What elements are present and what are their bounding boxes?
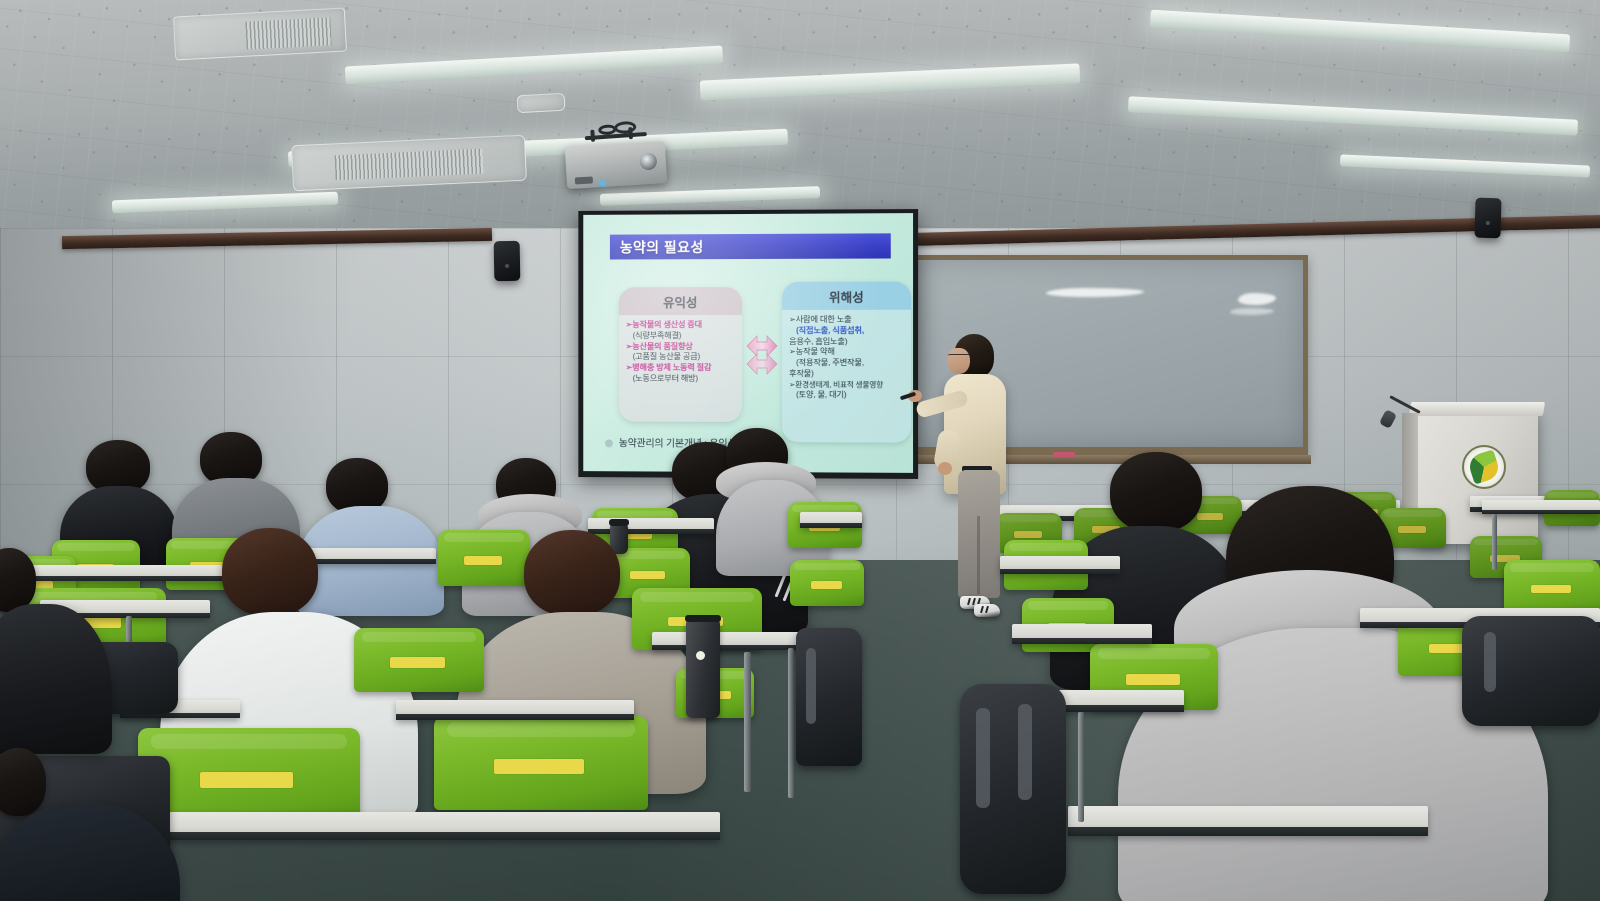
chair xyxy=(1504,560,1600,614)
backpack-strap xyxy=(1018,704,1032,800)
audience-member xyxy=(0,548,112,748)
vent-grille xyxy=(246,17,332,50)
risks-item: (직접노출, 식품섭취, xyxy=(789,326,905,337)
benefits-item: ➢병해충 방제 노동력 절감 xyxy=(626,363,736,374)
risks-item: (적용작물, 주변작물, xyxy=(789,358,905,369)
risks-body: ➢사람에 대한 노출 (직접노출, 식품섭취, 음용수, 흡입노출) ➢농작물 … xyxy=(782,310,911,407)
benefits-heading: 유익성 xyxy=(619,287,742,315)
benefits-item: (노동으로부터 해방) xyxy=(626,374,736,385)
benefits-item: (식량부족해결) xyxy=(626,331,736,342)
lectern-top xyxy=(1409,402,1545,416)
risks-item: 후작물) xyxy=(789,369,905,380)
slide-card-risks: 위해성 ➢사람에 대한 노출 (직접노출, 식품섭취, 음용수, 흡입노출) ➢… xyxy=(782,282,911,443)
whiteboard-smudge xyxy=(1230,308,1274,315)
risks-item: ➢환경생태계, 비표적 생물영향 xyxy=(789,380,905,390)
projector-lens xyxy=(639,153,657,171)
university-logo xyxy=(1462,445,1506,489)
risks-item: ➢농작물 약해 xyxy=(789,347,905,358)
backpack xyxy=(1462,616,1600,726)
benefits-item: ➢농산물의 품질향상 xyxy=(626,342,736,353)
desk-leg xyxy=(744,652,751,792)
presenter-hand xyxy=(938,462,952,475)
head xyxy=(0,548,36,612)
chair-label xyxy=(1126,674,1180,685)
risks-heading: 위해성 xyxy=(782,282,911,310)
risks-item: 음용수, 흡입노출) xyxy=(789,337,905,348)
head xyxy=(0,748,46,816)
backpack xyxy=(960,684,1066,894)
chair-label xyxy=(811,581,842,588)
slide-card-benefits: 유익성 ➢농작물의 생산성 증대 (식량부족해결) ➢농산물의 품질향상 (고품… xyxy=(619,287,742,422)
head xyxy=(222,528,318,616)
slide-title: 농약의 필요성 xyxy=(610,233,891,259)
wall-speaker xyxy=(494,241,521,281)
vent-grille xyxy=(334,149,483,180)
presenter-shoe xyxy=(974,604,1000,617)
chair xyxy=(434,716,648,810)
benefits-item: ➢농작물의 생산성 증대 xyxy=(626,320,736,331)
desk-leg xyxy=(788,648,794,798)
bottle-lid xyxy=(609,519,629,526)
ceiling-ac-unit xyxy=(517,93,566,113)
benefits-body: ➢농작물의 생산성 증대 (식량부족해결) ➢농산물의 품질향상 (고품질 농산… xyxy=(619,315,742,391)
desk xyxy=(1012,624,1152,644)
projector-power-led xyxy=(599,181,606,185)
chair-label xyxy=(200,772,293,787)
chair-label xyxy=(1531,585,1571,594)
logo-emblem xyxy=(1466,449,1501,484)
desk-leg xyxy=(1078,712,1084,822)
whiteboard-smudge xyxy=(1238,293,1276,305)
risks-item: ➢사람에 대한 노출 xyxy=(789,315,905,326)
double-arrow-icon xyxy=(745,332,779,378)
desk xyxy=(800,512,862,528)
backpack-strap xyxy=(976,708,990,808)
presenter-trousers xyxy=(958,470,1000,598)
risks-item: (토양, 물, 대기) xyxy=(789,390,905,401)
bottle-lid xyxy=(685,615,721,622)
torso xyxy=(0,604,112,754)
ceiling-projector xyxy=(565,141,667,189)
wall-speaker xyxy=(1474,198,1501,239)
benefits-item: (고품질 농산물 공급) xyxy=(626,352,736,363)
backpack xyxy=(796,628,862,766)
desk xyxy=(1068,806,1428,836)
head xyxy=(524,530,620,616)
ceiling-air-vent xyxy=(173,8,347,61)
glasses-icon xyxy=(948,354,970,359)
footer-bullet-icon xyxy=(605,439,613,447)
backpack-strap xyxy=(1484,632,1496,692)
chair-label xyxy=(494,759,584,774)
water-bottle xyxy=(686,620,720,718)
bottle-sticker xyxy=(696,651,705,660)
chair xyxy=(790,560,864,606)
desk xyxy=(652,632,802,650)
desk xyxy=(396,700,634,720)
chair-label xyxy=(390,657,445,667)
audience-member xyxy=(0,736,180,901)
desk xyxy=(1000,556,1120,574)
torso xyxy=(0,804,180,901)
chair xyxy=(354,628,484,692)
lecture-hall-photo: 농약의 필요성 유익성 ➢농작물의 생산성 증대 (식량부족해결) ➢농산물의 … xyxy=(0,0,1600,901)
desk xyxy=(140,812,720,840)
presenter-face xyxy=(948,348,970,374)
backpack-strap xyxy=(806,648,816,724)
whiteboard-smudge xyxy=(1046,288,1144,297)
